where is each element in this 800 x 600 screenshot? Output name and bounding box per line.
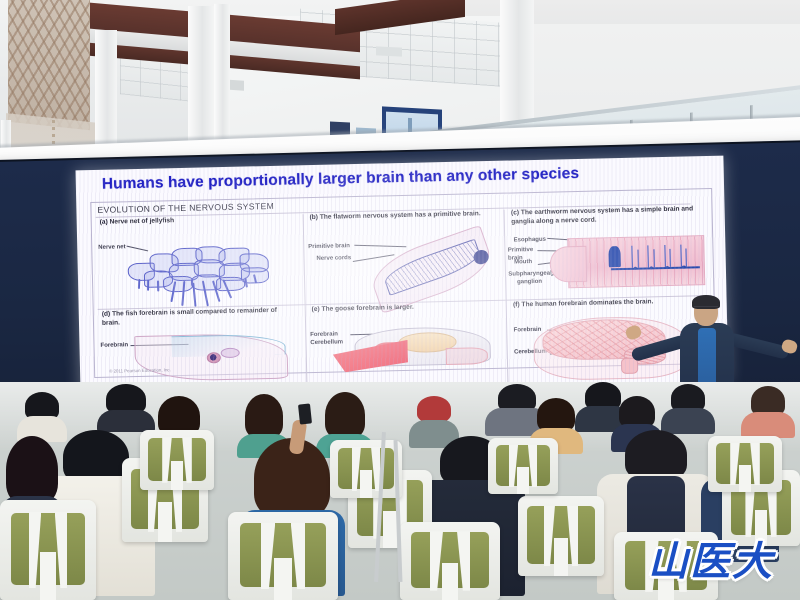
screenshot-root: Humans have proportionally larger brain …	[0, 0, 800, 600]
figure-panel-c: (c) The earthworm nervous system has a s…	[507, 205, 707, 301]
flatworm-illustration	[371, 242, 493, 297]
panel-b-tag: (b)	[309, 214, 318, 221]
chair[interactable]	[488, 438, 558, 494]
label-nerve-cords: Nerve cords	[316, 255, 351, 263]
chair[interactable]	[330, 440, 402, 498]
figure-panel-e: (e) The goose forebrain is larger. Foreb…	[308, 302, 505, 390]
figure-panel-a: (a) Nerve net of jellyfish Nerve net	[96, 214, 300, 311]
label-esophagus: Esophagus	[514, 237, 547, 245]
goose-head-illustration	[335, 326, 492, 380]
panel-d-caption: The fish forebrain is small compared to …	[102, 307, 277, 327]
chair[interactable]	[708, 436, 782, 492]
panel-c-tag: (c)	[511, 209, 519, 216]
panel-c-caption: The earthworm nervous system has a simpl…	[511, 205, 693, 225]
panel-e-caption: The goose forebrain is larger.	[321, 304, 413, 313]
earthworm-illustration	[567, 235, 705, 288]
audience-person	[96, 384, 156, 430]
label-forebrain-fish: Forebrain	[100, 342, 128, 350]
panel-a-tag: (a)	[100, 219, 108, 226]
channel-watermark: 山医大	[648, 534, 794, 592]
chair[interactable]	[0, 500, 96, 600]
panel-f-tag: (f)	[513, 301, 520, 308]
decorative-lattice-panel	[8, 0, 90, 130]
panel-a-caption: Nerve net of jellyfish	[110, 217, 175, 225]
fish-head-illustration	[135, 333, 289, 382]
presentation-slide: Humans have proportionally larger brain …	[76, 156, 729, 397]
label-mouth: Mouth	[514, 259, 532, 267]
chair[interactable]	[228, 512, 338, 600]
label-forebrain-goose: Forebrain	[310, 331, 338, 339]
audience-person	[660, 384, 716, 432]
presenter-right-arm	[726, 332, 789, 360]
panel-e-tag: (e)	[312, 306, 320, 313]
label-subpharyngeal-ganglion: Subpharyngeal ganglion	[508, 271, 550, 287]
panel-d-tag: (d)	[102, 311, 111, 318]
ceiling-vent-2	[376, 46, 402, 56]
chair[interactable]	[400, 522, 500, 600]
audience-person	[740, 386, 796, 436]
label-primitive-brain: Primitive brain	[308, 243, 350, 251]
slide-figure-frame: EVOLUTION OF THE NERVOUS SYSTEM (a) Nerv…	[90, 188, 716, 378]
presenter-glasses	[694, 306, 718, 312]
smartphone[interactable]	[298, 403, 312, 424]
jellyfish-illustration	[124, 241, 283, 307]
chair[interactable]	[518, 496, 604, 576]
chair[interactable]	[140, 430, 214, 490]
slide-title: Humans have proportionally larger brain …	[102, 162, 712, 194]
figure-panel-b: (b) The flatworm nervous system has a pr…	[305, 210, 502, 306]
